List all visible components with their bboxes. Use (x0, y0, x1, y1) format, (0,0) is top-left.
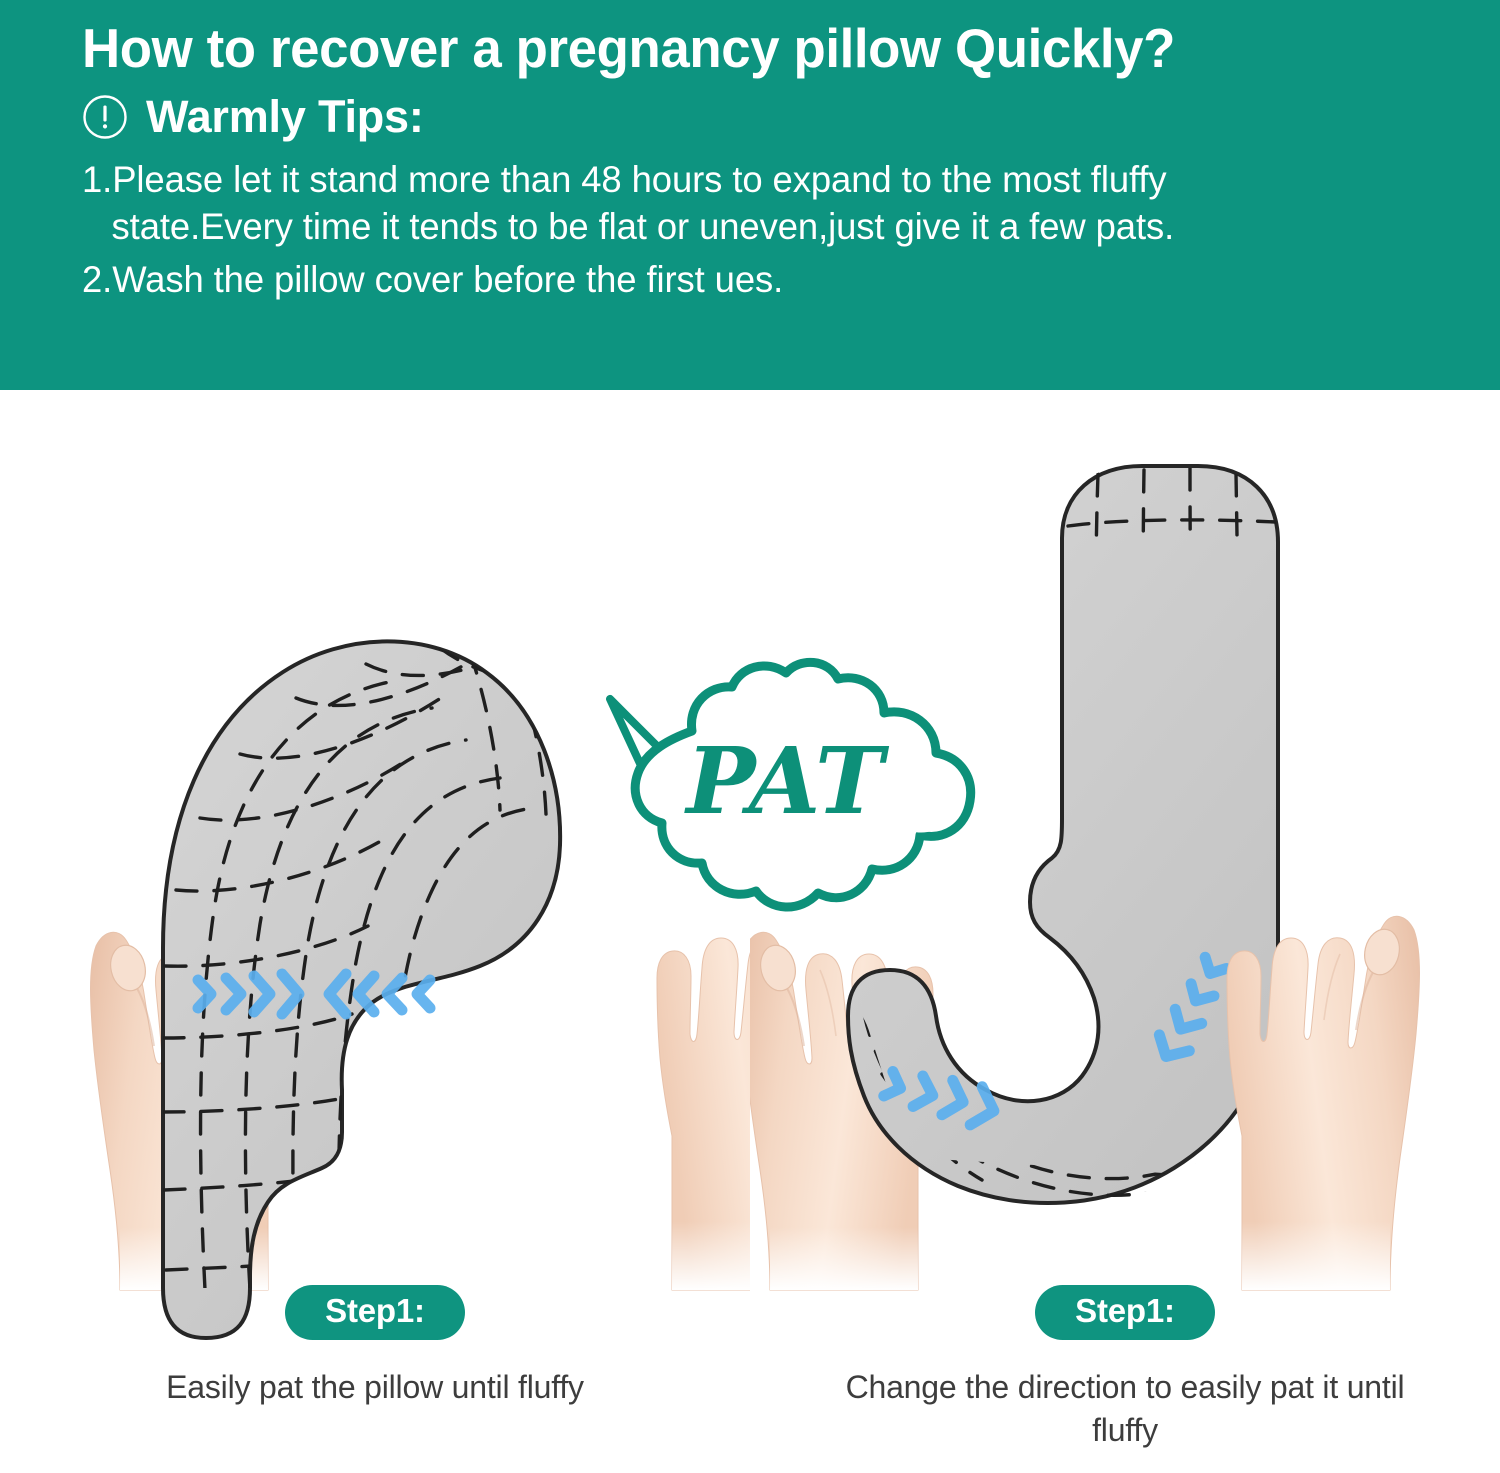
warmly-tips-heading: Warmly Tips: (82, 94, 1430, 140)
page-title: How to recover a pregnancy pillow Quickl… (82, 18, 1376, 80)
pat-speech-bubble: PAT (580, 635, 990, 945)
tip-1-line-2: state.Every time it tends to be flat or … (82, 203, 1410, 250)
tip-1-line-1: 1.Please let it stand more than 48 hours… (82, 159, 1167, 200)
tip-2-line-1: 2.Wash the pillow cover before the first… (82, 259, 783, 300)
illustration-area: Step1: Easily pat the pillow until fluff… (0, 390, 1500, 1473)
hand-right (1227, 916, 1420, 1290)
step-badge-left: Step1: (285, 1285, 465, 1340)
pregnancy-pillow-c-shape (163, 636, 562, 1338)
tip-item-2: 2.Wash the pillow cover before the first… (82, 256, 1410, 303)
infographic-page: How to recover a pregnancy pillow Quickl… (0, 0, 1500, 1473)
step-block-left: Step1: Easily pat the pillow until fluff… (0, 1285, 750, 1409)
hand-right (657, 916, 750, 1290)
warmly-tips-label: Warmly Tips: (146, 94, 424, 139)
step-caption-left: Easily pat the pillow until fluffy (0, 1366, 750, 1409)
step-caption-right: Change the direction to easily pat it un… (750, 1366, 1500, 1452)
pat-word: PAT (683, 727, 890, 835)
exclamation-circle-icon (82, 94, 128, 140)
step-badge-right: Step1: (1035, 1285, 1215, 1340)
tip-item-1: 1.Please let it stand more than 48 hours… (82, 156, 1410, 251)
tips-list: 1.Please let it stand more than 48 hours… (82, 156, 1430, 304)
step-block-right: Step1: Change the direction to easily pa… (750, 1285, 1500, 1452)
header-band: How to recover a pregnancy pillow Quickl… (0, 0, 1500, 390)
